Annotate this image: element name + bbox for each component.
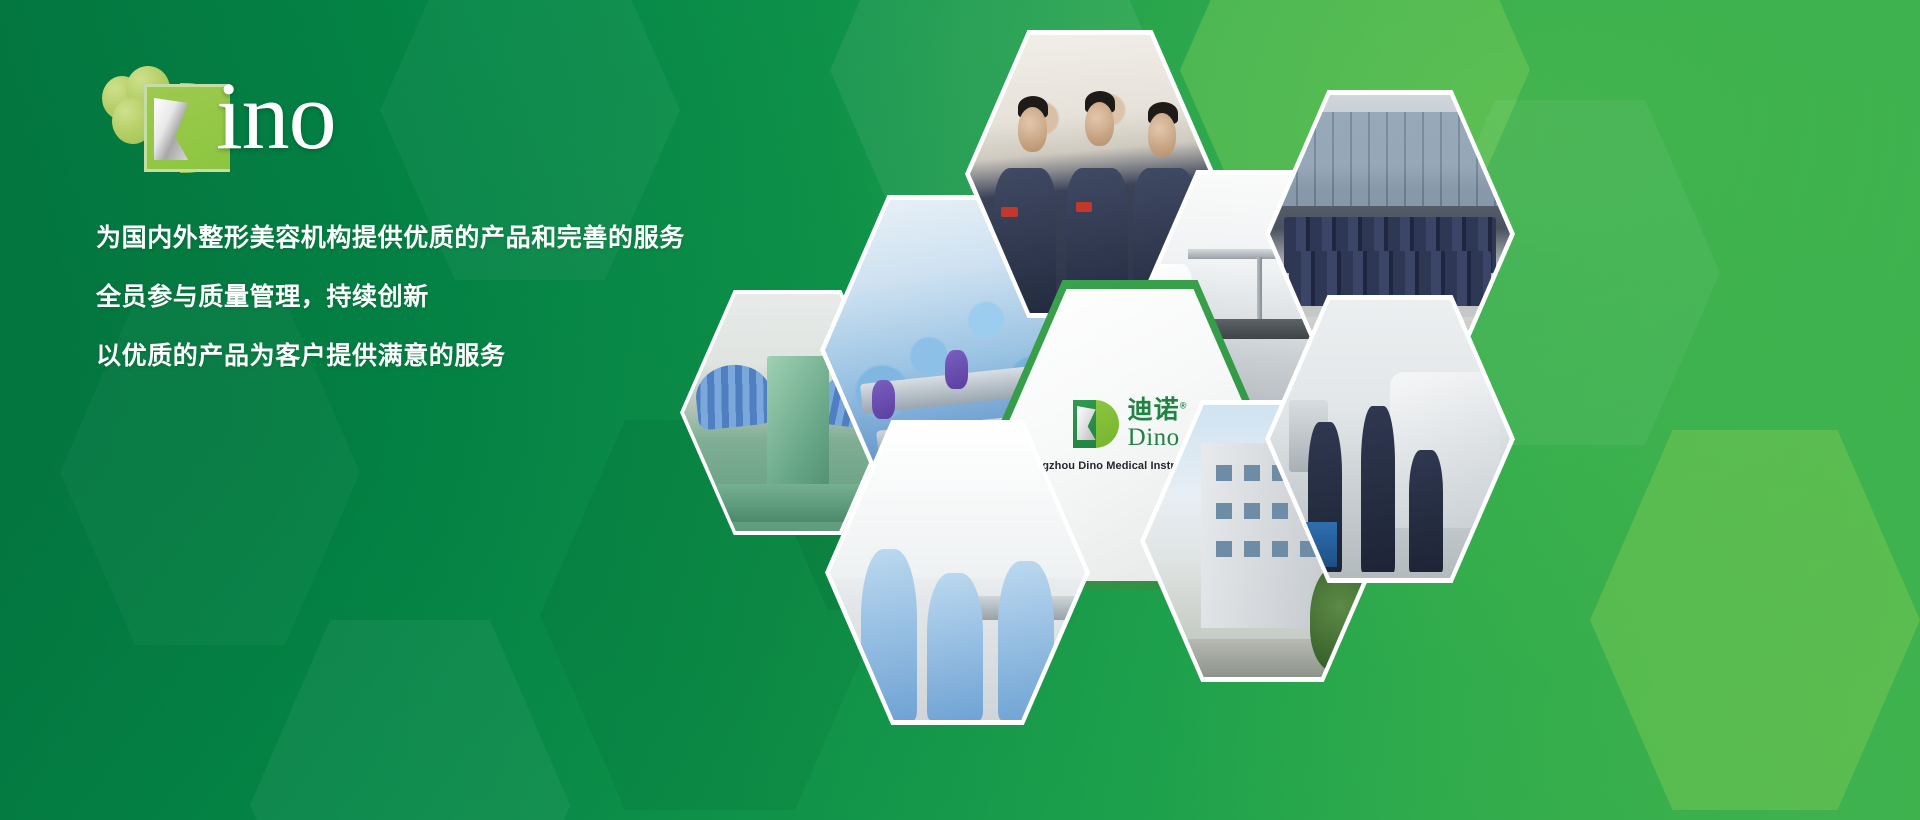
brand-logo[interactable]: ino [96,62,426,172]
brand-wordmark: ino [216,68,336,164]
badge-name-cn: 迪诺 [1128,396,1180,424]
badge-name-en: Dino [1128,425,1188,450]
badge-logo-mark: 迪诺® Dino [1073,398,1188,450]
registered-mark-icon: ® [1180,401,1188,411]
hexagon-photo-collage: 迪诺® Dino Hangzhou Dino Medical Instrumen… [640,0,1920,820]
dino-d-mark-icon [1073,400,1119,448]
banner-stage: ino 为国内外整形美容机构提供优质的产品和完善的服务 全员参与质量管理，持续创… [0,0,1920,820]
